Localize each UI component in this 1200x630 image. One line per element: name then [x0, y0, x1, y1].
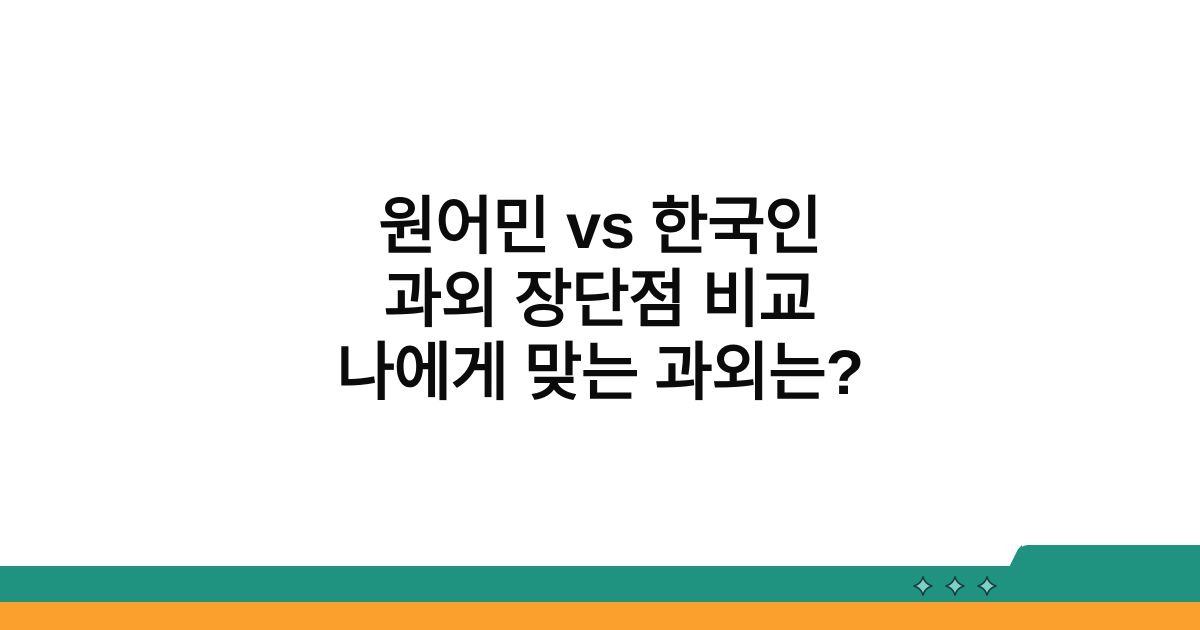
bottom-decoration: [0, 520, 1200, 630]
sparkle-row: [912, 574, 998, 598]
sparkle-icon: [976, 575, 998, 597]
title-line-1: 원어민 vs 한국인: [0, 196, 1200, 259]
sparkle-icon: [912, 575, 934, 597]
teal-raised-step: [1018, 545, 1200, 602]
orange-band: [0, 602, 1200, 630]
thumbnail-card: 원어민 vs 한국인 과외 장단점 비교 나에게 맞는 과외는?: [0, 0, 1200, 630]
sparkle-icon: [944, 575, 966, 597]
title-line-3: 나에게 맞는 과외는?: [0, 342, 1200, 405]
page-title: 원어민 vs 한국인 과외 장단점 비교 나에게 맞는 과외는?: [0, 196, 1200, 405]
title-line-2: 과외 장단점 비교: [0, 269, 1200, 332]
